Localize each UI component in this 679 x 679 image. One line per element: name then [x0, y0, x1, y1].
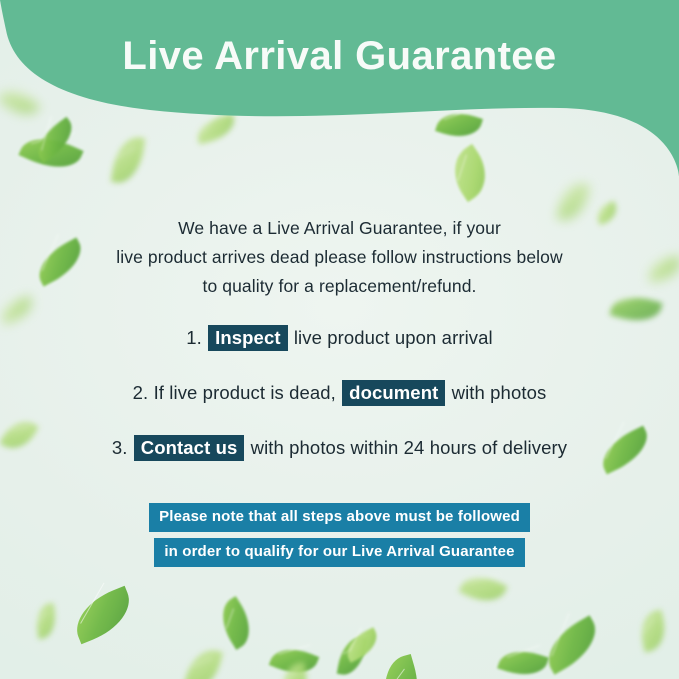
step-1-after: live product upon arrival — [294, 327, 493, 348]
live-arrival-guarantee-poster: Live Arrival Guarantee We have a Live Ar… — [0, 0, 679, 679]
step-3-highlight: Contact us — [134, 435, 245, 461]
step-2-highlight: document — [342, 380, 445, 406]
leaf-icon — [636, 609, 670, 652]
step-1-highlight: Inspect — [208, 325, 287, 351]
intro-line-3: to quality for a replacement/refund. — [0, 272, 679, 301]
leaf-icon — [374, 654, 428, 679]
steps-list: 1. Inspect live product upon arrival 2. … — [0, 322, 679, 487]
page-title: Live Arrival Guarantee — [0, 30, 679, 82]
leaf-icon — [212, 596, 260, 650]
leaf-icon — [279, 662, 312, 679]
notice-line-2: in order to qualify for our Live Arrival… — [154, 538, 524, 567]
step-3-after: with photos within 24 hours of delivery — [251, 437, 568, 458]
notice-line-2-wrap: in order to qualify for our Live Arrival… — [0, 538, 679, 567]
step-1-number: 1. — [186, 327, 202, 348]
step-item-2: 2. If live product is dead, document wit… — [0, 377, 679, 408]
leaf-icon — [341, 627, 383, 663]
leaf-icon — [337, 634, 368, 678]
intro-line-1: We have a Live Arrival Guarantee, if you… — [0, 214, 679, 243]
step-3-number: 3. — [112, 437, 128, 458]
leaf-icon — [458, 568, 507, 610]
intro-line-2: live product arrives dead please follow … — [0, 243, 679, 272]
leaf-icon — [67, 586, 139, 644]
step-2-before: If live product is dead, — [154, 382, 336, 403]
step-item-1: 1. Inspect live product upon arrival — [0, 322, 679, 353]
leaf-icon — [269, 641, 320, 679]
step-item-3: 3. Contact us with photos within 24 hour… — [0, 432, 679, 463]
notice-banner: Please note that all steps above must be… — [0, 503, 679, 567]
leaf-icon — [34, 603, 59, 639]
notice-line-1-wrap: Please note that all steps above must be… — [0, 503, 679, 532]
step-2-after: with photos — [452, 382, 547, 403]
leaf-icon — [538, 615, 607, 674]
step-2-number: 2. — [133, 382, 149, 403]
leaf-icon — [183, 645, 223, 679]
notice-line-1: Please note that all steps above must be… — [149, 503, 530, 532]
leaf-icon — [497, 644, 549, 679]
intro-paragraph: We have a Live Arrival Guarantee, if you… — [0, 214, 679, 301]
